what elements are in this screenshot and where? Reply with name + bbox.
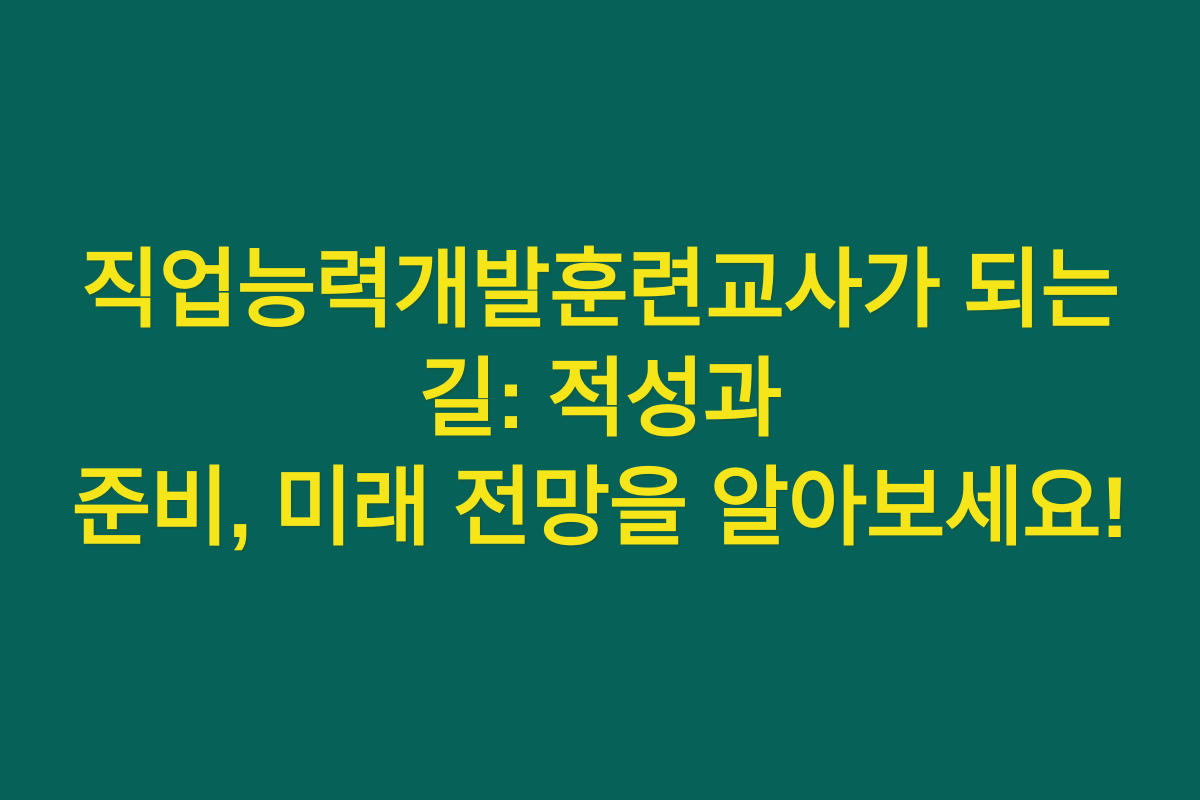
headline-line-1: 직업능력개발훈련교사가 되는: [18, 236, 1182, 345]
headline-line-3: 준비, 미래 전망을 알아보세요!: [18, 454, 1182, 563]
banner-canvas: 직업능력개발훈련교사가 되는 길: 적성과 준비, 미래 전망을 알아보세요!: [0, 0, 1200, 800]
headline-line-2: 길: 적성과: [18, 345, 1182, 454]
headline-block: 직업능력개발훈련교사가 되는 길: 적성과 준비, 미래 전망을 알아보세요!: [0, 236, 1200, 563]
